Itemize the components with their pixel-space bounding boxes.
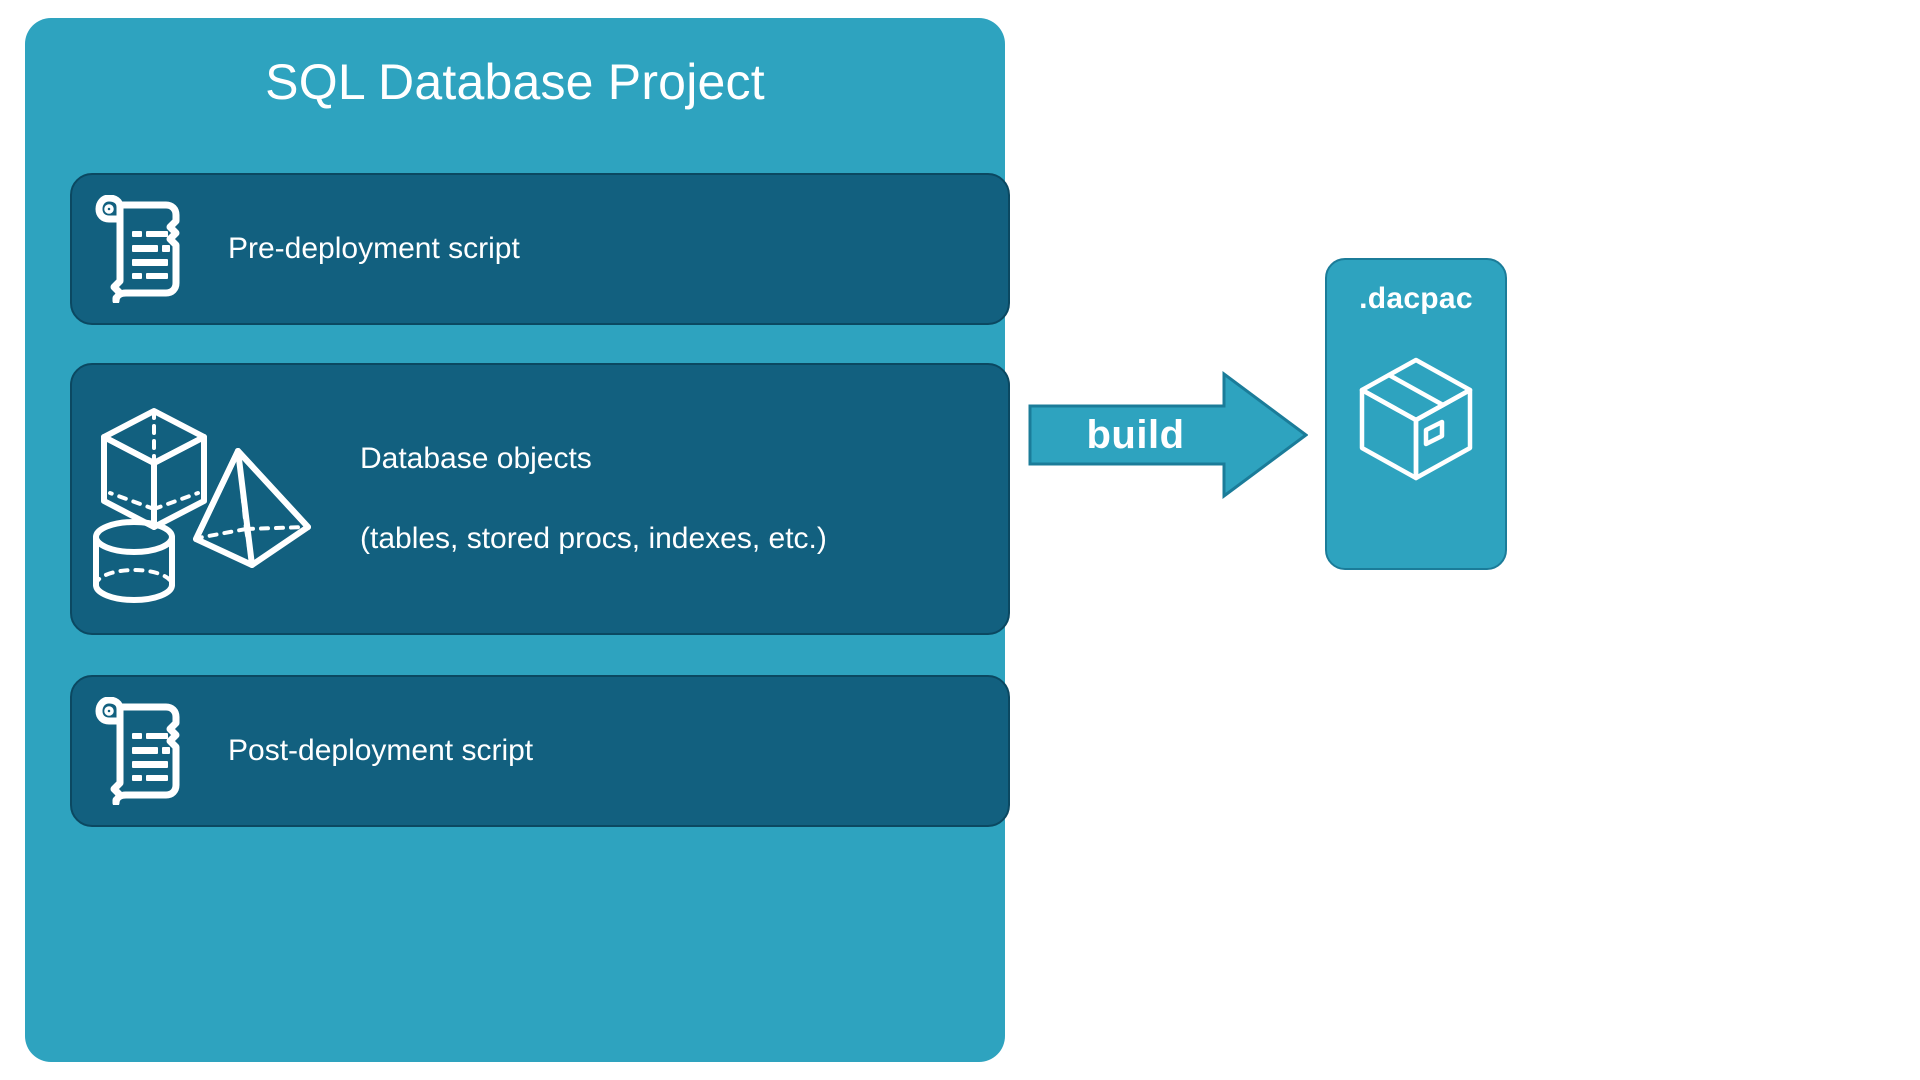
scroll-icon — [90, 195, 190, 303]
dacpac-title: .dacpac — [1327, 282, 1505, 316]
scroll-icon — [90, 697, 190, 805]
panel-pre-deployment-script[interactable]: Pre-deployment script — [70, 173, 1010, 325]
panel-database-objects-label: Database objects (tables, stored procs, … — [360, 399, 827, 599]
diagram-canvas: SQL Database Project — [0, 0, 1920, 1080]
right-arrow-icon — [1030, 374, 1306, 496]
panel-database-objects-line2: (tables, stored procs, indexes, etc.) — [360, 519, 827, 559]
dacpac-output-card[interactable]: .dacpac — [1325, 258, 1507, 570]
panel-database-objects-line1: Database objects — [360, 439, 827, 479]
panel-pre-deployment-label: Pre-deployment script — [228, 229, 520, 269]
database-objects-icon-group — [86, 389, 316, 609]
panel-database-objects[interactable]: Database objects (tables, stored procs, … — [70, 363, 1010, 635]
panel-post-deployment-script[interactable]: Post-deployment script — [70, 675, 1010, 827]
panel-post-deployment-label: Post-deployment script — [228, 731, 533, 771]
project-title: SQL Database Project — [25, 54, 1005, 110]
package-box-icon — [1352, 342, 1480, 499]
build-arrow[interactable]: build — [1028, 370, 1308, 500]
sql-database-project-card: SQL Database Project — [25, 18, 1005, 1062]
